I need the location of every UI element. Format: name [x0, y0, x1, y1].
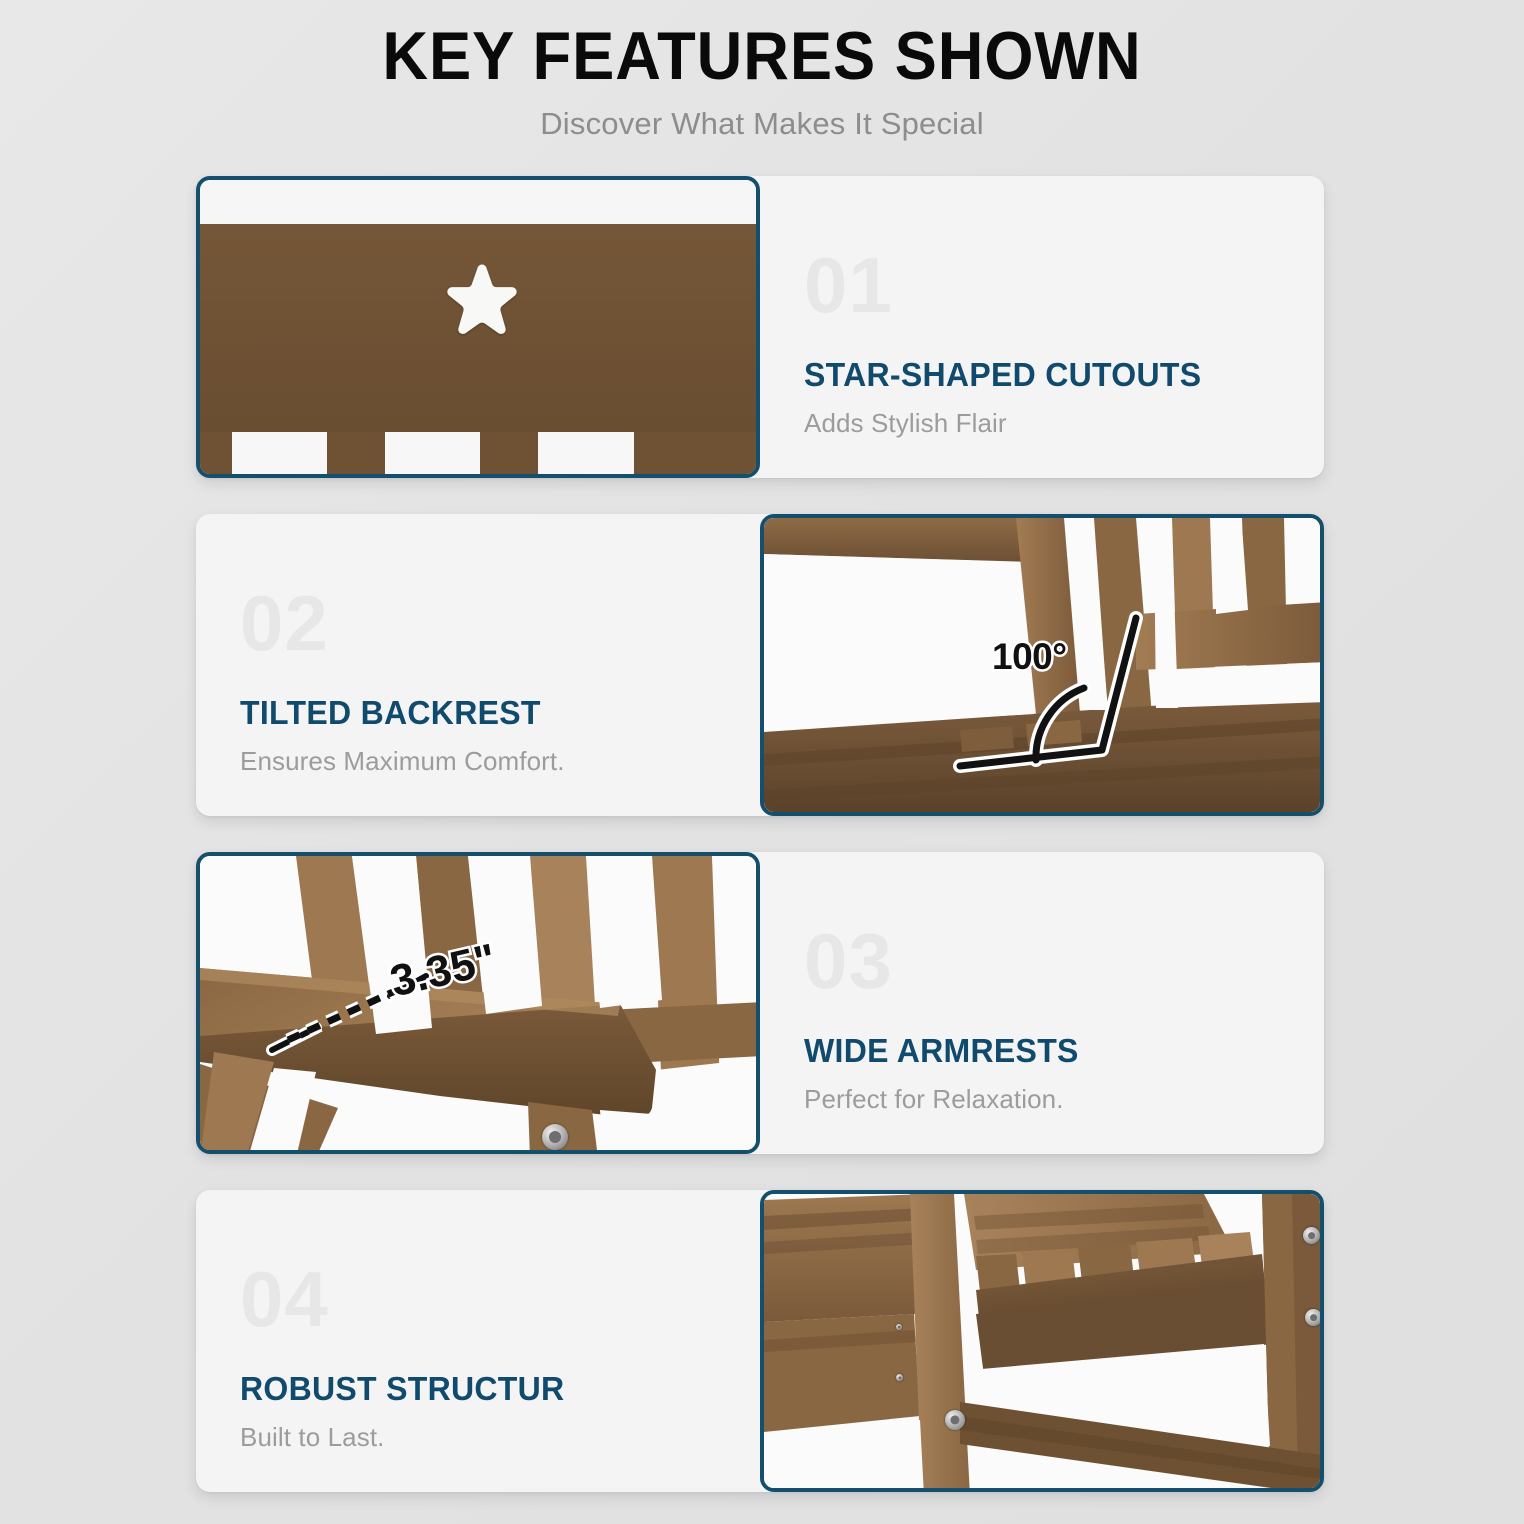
feature-title-02: TILTED BACKREST — [240, 694, 744, 732]
armrest-photo: 3.35" — [200, 856, 756, 1150]
feature-title-03: WIDE ARMRESTS — [804, 1032, 1308, 1070]
feature-card-01[interactable]: 01 STAR-SHAPED CUTOUTS Adds Stylish Flai… — [196, 176, 1324, 478]
frame-joint-photo — [764, 1194, 1320, 1488]
feature-card-03[interactable]: 3.35" 03 WIDE ARMRESTS Perfect for Relax… — [196, 852, 1324, 1154]
feature-image-03: 3.35" — [196, 852, 760, 1154]
page-subtitle: Discover What Makes It Special — [0, 106, 1524, 142]
frame-screw-icon-4 — [896, 1374, 903, 1381]
feature-card-04[interactable]: 04 ROBUST STRUCTUR Built to Last. — [196, 1190, 1324, 1492]
frame-screw-icon-1 — [945, 1410, 965, 1430]
feature-text-02: 02 TILTED BACKREST Ensures Maximum Comfo… — [196, 514, 760, 816]
feature-image-02: 100° — [760, 514, 1324, 816]
feature-image-04 — [760, 1190, 1324, 1492]
page-title: KEY FEATURES SHOWN — [53, 18, 1470, 94]
backrest-slat-gaps — [200, 432, 756, 478]
angle-annotation-label: 100° — [992, 636, 1067, 678]
feature-text-04: 04 ROBUST STRUCTUR Built to Last. — [196, 1190, 760, 1492]
feature-title-01: STAR-SHAPED CUTOUTS — [804, 356, 1308, 394]
frame-screw-icon-2 — [1303, 1227, 1320, 1244]
star-cutout-icon — [443, 263, 521, 337]
frame-screw-icon-5 — [896, 1324, 902, 1330]
feature-title-04: ROBUST STRUCTUR — [240, 1370, 744, 1408]
feature-image-01 — [196, 176, 760, 478]
backrest-angle-photo: 100° — [764, 518, 1320, 812]
feature-number-04: 04 — [240, 1264, 760, 1336]
feature-number-01: 01 — [804, 250, 1324, 322]
page-header: KEY FEATURES SHOWN Discover What Makes I… — [0, 0, 1524, 142]
feature-card-list: 01 STAR-SHAPED CUTOUTS Adds Stylish Flai… — [196, 176, 1324, 1524]
feature-subtitle-02: Ensures Maximum Comfort. — [240, 746, 760, 777]
feature-subtitle-01: Adds Stylish Flair — [804, 408, 1324, 439]
frame-screw-icon-3 — [1305, 1309, 1320, 1326]
armrest-screw-icon — [542, 1124, 568, 1150]
chair-frame-illustration — [764, 1194, 1320, 1488]
feature-subtitle-04: Built to Last. — [240, 1422, 760, 1453]
feature-number-03: 03 — [804, 926, 1324, 998]
feature-text-03: 03 WIDE ARMRESTS Perfect for Relaxation. — [760, 852, 1324, 1154]
feature-number-02: 02 — [240, 588, 760, 660]
feature-showcase-page: KEY FEATURES SHOWN Discover What Makes I… — [0, 0, 1524, 1524]
backrest-top-edge — [200, 180, 756, 224]
feature-text-01: 01 STAR-SHAPED CUTOUTS Adds Stylish Flai… — [760, 176, 1324, 478]
feature-subtitle-03: Perfect for Relaxation. — [804, 1084, 1324, 1115]
feature-card-02[interactable]: 100° 02 TILTED BACKREST Ensures Maximum … — [196, 514, 1324, 816]
armrest-illustration — [200, 856, 756, 1150]
